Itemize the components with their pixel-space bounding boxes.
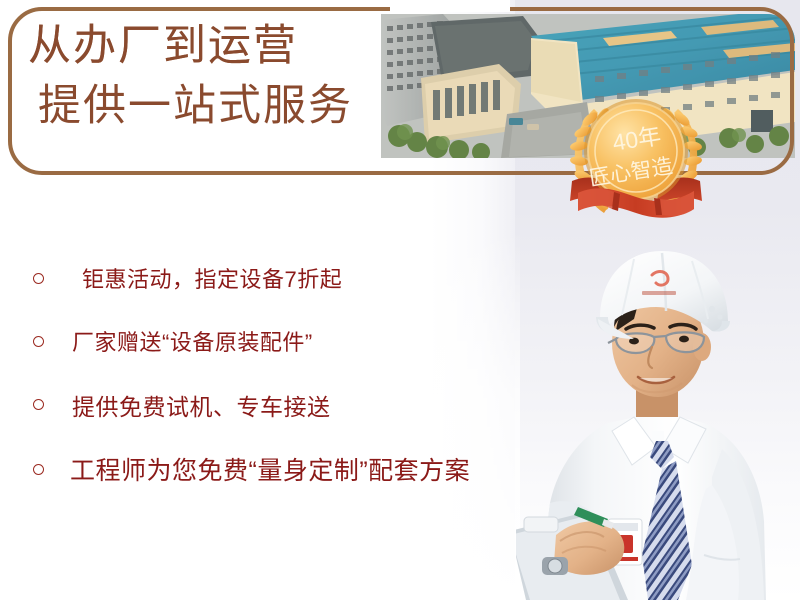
anniversary-badge: 40年 匠心智造 xyxy=(556,85,716,230)
list-item: 工程师为您免费“量身定制”配套方案 xyxy=(0,451,520,514)
engineer-photo xyxy=(516,235,800,600)
list-item: 厂家赠送“设备原装配件” xyxy=(0,325,520,388)
frame-top-gap-mask xyxy=(390,0,510,12)
list-item-label: 厂家赠送“设备原装配件” xyxy=(72,325,313,357)
headline-line-2: 提供一站式服务 xyxy=(26,82,376,133)
bullet-circle-icon xyxy=(33,273,44,284)
list-item-label: 提供免费试机、专车接送 xyxy=(72,388,331,422)
headline: 从办厂到运营 提供一站式服务 xyxy=(26,22,376,132)
bullet-circle-icon xyxy=(33,336,44,347)
bullet-circle-icon xyxy=(33,399,44,410)
list-item: 提供免费试机、专车接送 xyxy=(0,388,520,451)
promo-banner: 从办厂到运营 提供一站式服务 xyxy=(0,0,800,600)
benefits-list: 钜惠活动，指定设备7折起 厂家赠送“设备原装配件” 提供免费试机、专车接送 工程… xyxy=(0,262,520,514)
list-item-label: 钜惠活动，指定设备7折起 xyxy=(82,262,342,294)
bullet-circle-icon xyxy=(33,464,44,475)
headline-line-1: 从办厂到运营 xyxy=(26,22,376,73)
list-item: 钜惠活动，指定设备7折起 xyxy=(0,262,520,325)
list-item-label: 工程师为您免费“量身定制”配套方案 xyxy=(70,451,470,487)
